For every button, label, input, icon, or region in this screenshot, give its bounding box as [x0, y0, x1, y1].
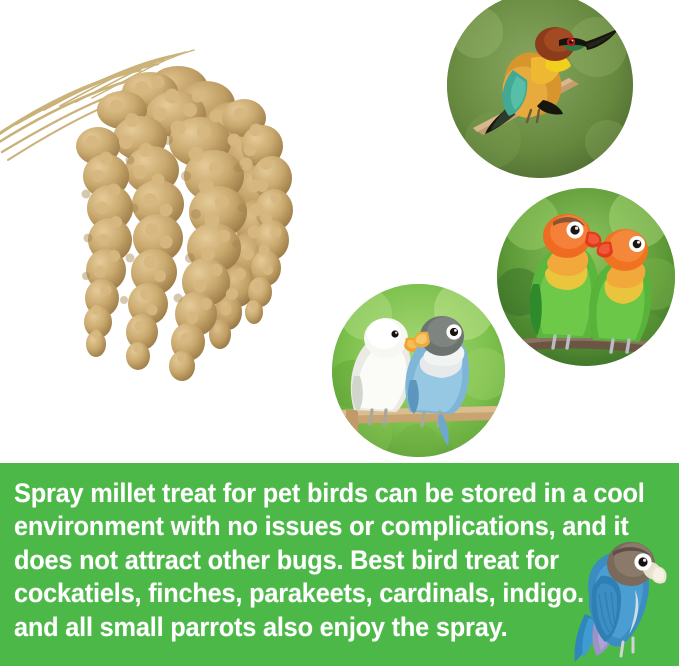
photo-circle-white-and-blue-lovebird: [332, 284, 505, 457]
product-image-canvas: Spray millet treat for pet birds can be …: [0, 0, 679, 666]
description-banner: Spray millet treat for pet birds can be …: [0, 463, 679, 666]
millet-spray-image: [0, 18, 360, 388]
banner-line-1: Spray millet treat for pet birds can be …: [14, 477, 549, 510]
lovebird-right: [589, 229, 651, 352]
banner-line-3: does not attract other bugs. Best bird t…: [14, 544, 549, 577]
banner-line-5: and all small parrots also enjoy the spr…: [14, 611, 549, 644]
banner-description-text: Spray millet treat for pet birds can be …: [14, 477, 549, 644]
banner-blue-lovebird-image: [551, 538, 669, 666]
banner-line-4: cockatiels, finches, parakeets, cardinal…: [14, 577, 549, 610]
banner-line-2: environment with no issues or complicati…: [14, 510, 549, 543]
photo-circle-lovebird-pair: [497, 188, 675, 366]
photo-circle-bee-eater: [447, 0, 633, 178]
